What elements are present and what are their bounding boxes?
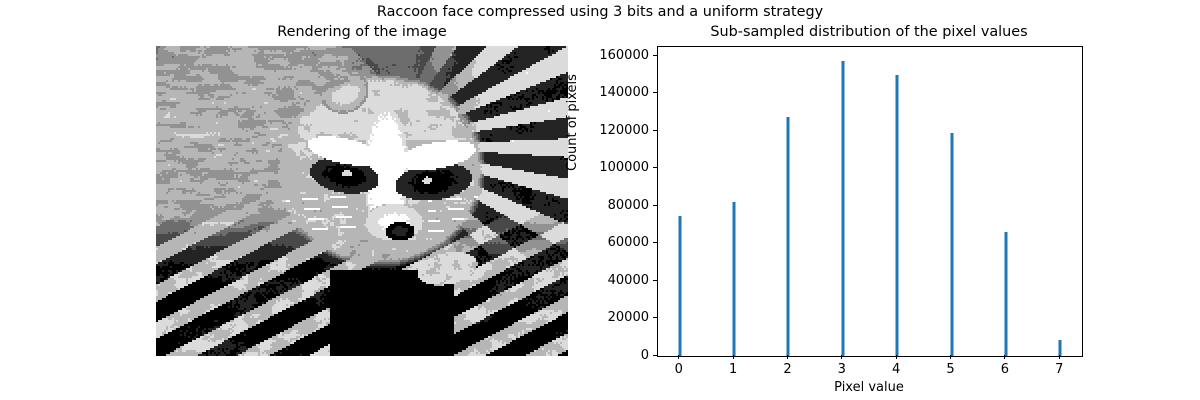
y-tick-mark — [653, 242, 657, 243]
x-tick-mark — [896, 355, 897, 359]
y-axis-label-text: Count of pixels — [565, 74, 581, 171]
x-tick-label: 3 — [822, 363, 862, 377]
histogram-axes — [657, 46, 1083, 357]
y-tick-label: 160000 — [557, 49, 649, 62]
y-tick-label: 60000 — [557, 236, 649, 249]
y-tick-label: 0 — [557, 349, 649, 362]
figure-suptitle: Raccoon face compressed using 3 bits and… — [0, 4, 1200, 20]
histogram-plot-area — [658, 47, 1082, 356]
histogram-bar — [896, 75, 899, 356]
image-panel-title: Rendering of the image — [156, 24, 568, 40]
y-tick-mark — [653, 55, 657, 56]
matplotlib-figure: Raccoon face compressed using 3 bits and… — [0, 0, 1200, 400]
x-tick-mark — [678, 355, 679, 359]
x-tick-label: 7 — [1039, 363, 1079, 377]
x-tick-label: 0 — [659, 363, 699, 377]
y-tick-label: 20000 — [557, 311, 649, 324]
y-tick-mark — [653, 280, 657, 281]
x-tick-mark — [1004, 355, 1005, 359]
x-tick-label: 6 — [985, 363, 1025, 377]
histogram-bar — [678, 216, 681, 356]
y-tick-mark — [653, 92, 657, 93]
y-tick-mark — [653, 205, 657, 206]
raccoon-image — [156, 46, 568, 356]
x-axis-label: Pixel value — [657, 381, 1081, 395]
y-axis-label: Count of pixels — [565, 155, 581, 171]
histogram-bar — [841, 61, 844, 356]
x-tick-mark — [787, 355, 788, 359]
histogram-bar — [733, 202, 736, 357]
histogram-bar — [1059, 340, 1062, 356]
x-tick-mark — [950, 355, 951, 359]
x-tick-label: 4 — [876, 363, 916, 377]
x-tick-mark — [733, 355, 734, 359]
y-tick-mark — [653, 130, 657, 131]
y-tick-label: 80000 — [557, 199, 649, 212]
x-tick-label: 2 — [767, 363, 807, 377]
x-tick-label: 1 — [713, 363, 753, 377]
histogram-bar — [950, 133, 953, 356]
x-tick-mark — [1059, 355, 1060, 359]
histogram-bar — [1004, 232, 1007, 356]
y-tick-mark — [653, 355, 657, 356]
y-tick-mark — [653, 317, 657, 318]
histogram-bar — [787, 117, 790, 356]
histogram-panel-title: Sub-sampled distribution of the pixel va… — [657, 24, 1081, 40]
x-tick-label: 5 — [931, 363, 971, 377]
raccoon-image-axes — [156, 46, 568, 356]
y-tick-mark — [653, 167, 657, 168]
y-tick-label: 40000 — [557, 274, 649, 287]
x-tick-mark — [841, 355, 842, 359]
